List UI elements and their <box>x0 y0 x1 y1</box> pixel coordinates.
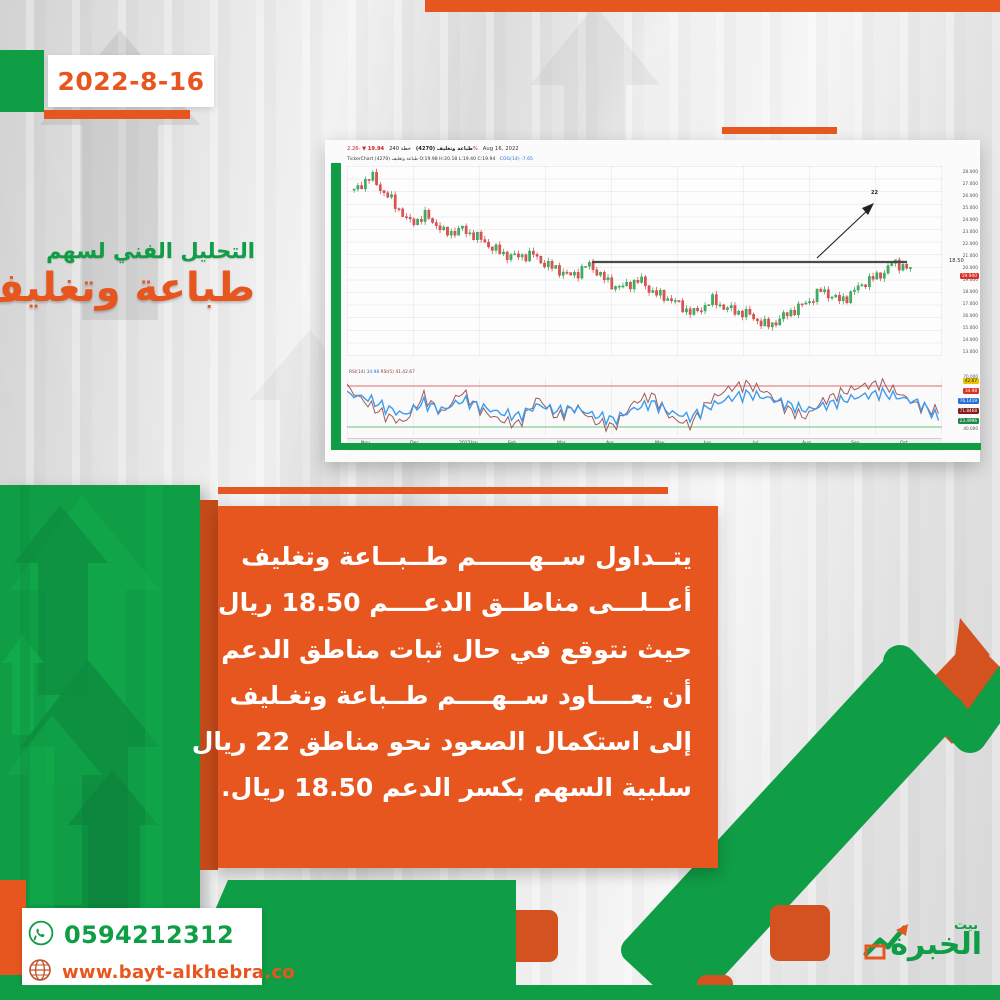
candle-body <box>491 247 493 250</box>
candle-body <box>868 276 870 287</box>
candle-body <box>487 242 489 247</box>
candle-body <box>726 308 728 310</box>
whatsapp-icon <box>28 920 54 950</box>
candle-body <box>741 311 743 317</box>
candle-body <box>543 263 545 267</box>
candle-body <box>443 227 445 230</box>
footer-phone-row[interactable]: 0594212312 <box>28 920 234 950</box>
target-arrow-line <box>817 208 870 258</box>
chart-symbol: طباعة وتغليف (4270) <box>416 146 473 152</box>
candle-body <box>820 289 822 292</box>
candle-body <box>644 277 646 286</box>
candle-body <box>439 226 441 230</box>
candle-body <box>846 297 848 303</box>
candle-body <box>637 280 639 282</box>
price-axis-tick: 18.000 <box>963 290 978 295</box>
candle-body <box>514 254 516 255</box>
candle-body <box>812 302 814 303</box>
candle-body <box>528 251 530 261</box>
candle-body <box>764 319 766 326</box>
candle-body <box>465 226 467 234</box>
chart-indicator-title: RSI(14) 34.98 RSI(5) 41.42.67 <box>349 370 415 375</box>
price-axis-tick: 17.000 <box>963 302 978 307</box>
candle-body <box>891 263 893 265</box>
chart-price-axis: 28.00027.00026.00025.00024.00023.00022.0… <box>945 166 979 356</box>
candle-body <box>850 292 852 303</box>
candle-body <box>521 255 523 257</box>
candle-body <box>857 286 859 290</box>
rsi5-value: 41.42.67 <box>395 370 415 375</box>
candle-body <box>525 255 527 261</box>
candle-body <box>424 210 426 221</box>
chart-header-quote: طباعة وتغليف (4270) خطة 240 19.94 ▼ -2.2… <box>347 146 519 152</box>
candle-body <box>782 313 784 319</box>
candle-body <box>704 305 706 311</box>
candle-body <box>402 209 404 217</box>
analysis-text-box: يتــداول ســهــــــم طــبــاعة وتغليف أع… <box>218 506 718 868</box>
candle-body <box>495 245 497 251</box>
candle-body <box>588 262 590 266</box>
candle-body <box>678 300 680 301</box>
candle-body <box>450 231 452 235</box>
candle-body <box>506 252 508 260</box>
candle-body <box>667 299 669 301</box>
price-axis-tick: 16.000 <box>963 314 978 319</box>
candle-body <box>484 240 486 242</box>
analysis-paragraph: يتــداول ســهــــــم طــبــاعة وتغليف أع… <box>244 534 692 812</box>
candle-body <box>794 310 796 315</box>
candle-body <box>540 256 542 263</box>
candle-body <box>607 278 609 280</box>
candle-body <box>472 233 474 240</box>
candle-body <box>693 308 695 314</box>
candle-body <box>622 286 624 287</box>
indicator-value-badge: 71.8468 <box>958 408 979 414</box>
candle-body <box>577 272 579 278</box>
chart-indicator-axis: 70.00050.00040.00042.6734.9876.141971.84… <box>945 372 979 440</box>
price-axis-tick: 21.000 <box>963 254 978 259</box>
candle-body <box>835 295 837 297</box>
price-axis-tick: 15.000 <box>963 326 978 331</box>
chart-accent-tick <box>722 127 837 134</box>
candle-body <box>786 313 788 316</box>
candle-body <box>674 300 676 301</box>
candle-body <box>659 290 661 295</box>
candle-body <box>364 179 366 189</box>
page-title: طباعة وتغليف <box>0 265 255 311</box>
candle-body <box>838 295 840 301</box>
price-axis-tick: 28.000 <box>963 170 978 175</box>
candle-body <box>760 321 762 326</box>
candle-body <box>566 272 568 273</box>
chart-direction-icon: ▼ <box>362 146 366 152</box>
candle-body <box>458 228 460 235</box>
headline-block: التحليل الفني لسهم طباعة وتغليف <box>0 240 255 311</box>
candle-body <box>734 306 736 315</box>
candle-body <box>394 195 396 209</box>
candle-body <box>853 290 855 291</box>
candle-body <box>536 254 538 256</box>
candle-body <box>711 295 713 305</box>
candle-body <box>655 291 657 296</box>
candle-body <box>906 264 908 268</box>
chart-cog-text: COG(14) -7.65 <box>500 157 533 162</box>
candle-body <box>555 265 557 268</box>
price-axis-tick: 22.000 <box>963 242 978 247</box>
target-price-label: 22 <box>871 190 878 196</box>
footer-website-row[interactable]: www.bayt-alkhebra.co <box>28 958 295 986</box>
candle-body <box>696 308 698 311</box>
candle-body <box>499 245 501 254</box>
chart-last-price: 19.94 <box>368 146 384 152</box>
candle-body <box>360 185 362 188</box>
candle-body <box>409 217 411 219</box>
chart-ohlc-text: TickerChart طباعة وتغليف (4270) O:19.98 … <box>347 157 495 162</box>
candle-body <box>405 217 407 218</box>
date-label: 2022-8-16 <box>57 67 204 96</box>
candle-body <box>749 309 751 314</box>
candle-body <box>398 209 400 210</box>
price-axis-tick: 26.000 <box>963 194 978 199</box>
analysis-line: سلبية السهم بكسر الدعم 18.50 ريال. <box>244 765 692 811</box>
chart-price-plot: 22 <box>347 166 942 356</box>
candle-body <box>375 172 377 184</box>
candle-body <box>413 219 415 225</box>
candle-body <box>790 310 792 316</box>
candle-body <box>831 297 833 298</box>
candle-body <box>416 219 418 225</box>
analysis-line: يتــداول ســهــــــم طــبــاعة وتغليف <box>244 534 692 580</box>
candle-body <box>872 276 874 279</box>
indicator-value-badge: 76.1419 <box>958 398 979 404</box>
indicator-value-badge: 34.98 <box>963 388 979 394</box>
logo-main-word: الخبرة <box>890 930 982 960</box>
candle-body <box>428 210 430 218</box>
candle-body <box>584 266 586 267</box>
candle-body <box>779 319 781 325</box>
price-axis-tick: 13.000 <box>963 350 978 355</box>
analysis-line: إلى استكمال الصعود نحو مناطق 22 ريال <box>244 719 692 765</box>
candle-body <box>670 299 672 301</box>
candle-body <box>599 272 601 275</box>
candle-body <box>723 305 725 310</box>
candle-body <box>517 254 519 257</box>
orange-side-strip <box>200 500 218 870</box>
current-price-tag: 19.940 <box>960 273 979 279</box>
candle-body <box>708 305 710 306</box>
candle-body <box>614 286 616 289</box>
date-badge: 2022-8-16 <box>48 55 214 107</box>
candle-body <box>879 273 881 279</box>
chart-interval: خطة 240 <box>389 146 411 152</box>
globe-icon <box>28 958 52 986</box>
candle-body <box>435 222 437 225</box>
text-box-accent-line <box>218 487 668 494</box>
candle-body <box>861 285 863 286</box>
candle-body <box>797 304 799 315</box>
candle-body <box>633 280 635 289</box>
candle-body <box>663 290 665 300</box>
analysis-line: حيث نتوقع في حال ثبات مناطق الدعم <box>244 627 692 673</box>
rsi14-label: RSI(14) <box>349 370 365 375</box>
brand-logo[interactable]: بيت الخبرة <box>862 916 982 978</box>
candle-body <box>383 191 385 193</box>
candle-body <box>547 261 549 267</box>
candle-body <box>801 304 803 305</box>
chart-header-ohlc: TickerChart طباعة وتغليف (4270) O:19.98 … <box>347 157 533 162</box>
price-axis-tick: 20.000 <box>963 266 978 271</box>
price-axis-tick: 23.000 <box>963 230 978 235</box>
candle-body <box>909 267 911 268</box>
candlestick-series <box>347 166 942 356</box>
candle-body <box>469 233 471 234</box>
candle-body <box>876 273 878 279</box>
candle-body <box>570 272 572 275</box>
candle-body <box>562 272 564 275</box>
candle-body <box>461 226 463 228</box>
candle-body <box>864 285 866 287</box>
candle-body <box>629 282 631 289</box>
headline-subtitle: التحليل الفني لسهم <box>0 240 255 263</box>
candle-body <box>551 261 553 268</box>
footer-website-url: www.bayt-alkhebra.co <box>62 962 295 983</box>
candle-body <box>454 231 456 235</box>
candle-body <box>805 303 807 304</box>
candle-body <box>640 277 642 283</box>
candle-body <box>823 290 825 292</box>
candle-body <box>368 179 370 180</box>
candle-body <box>902 264 904 270</box>
candle-body <box>372 172 374 180</box>
price-axis-tick: 14.000 <box>963 338 978 343</box>
candle-body <box>700 311 702 312</box>
date-badge-underline <box>44 110 190 119</box>
candle-body <box>420 219 422 221</box>
candle-body <box>480 232 482 239</box>
chart-bottom-accent <box>331 443 981 450</box>
candle-body <box>558 265 560 275</box>
candle-body <box>685 309 687 312</box>
rsi-series <box>347 378 942 436</box>
footer-bottom-bar <box>0 985 1000 1000</box>
indicator-value-badge: 23.4996 <box>958 418 979 424</box>
decorative-square <box>770 905 830 961</box>
candle-body <box>353 189 355 190</box>
candle-body <box>379 185 381 191</box>
candle-body <box>816 289 818 302</box>
candle-body <box>390 195 392 197</box>
candle-body <box>682 301 684 312</box>
candle-body <box>808 302 810 303</box>
candle-body <box>581 266 583 278</box>
price-axis-tick: 25.000 <box>963 206 978 211</box>
indicator-axis-tick: 40.000 <box>963 426 978 431</box>
candle-body <box>626 282 628 286</box>
candle-body <box>719 305 721 306</box>
candle-body <box>842 297 844 301</box>
date-badge-green-block <box>0 50 44 112</box>
chart-screenshot-card: طباعة وتغليف (4270) خطة 240 19.94 ▼ -2.2… <box>325 140 980 462</box>
candle-body <box>446 227 448 235</box>
top-accent-bar <box>425 0 1000 12</box>
candle-body <box>767 319 769 327</box>
poster-canvas: 2022-8-16 التحليل الفني لسهم طباعة وتغلي… <box>0 0 1000 1000</box>
candle-body <box>771 323 773 327</box>
candle-body <box>738 311 740 314</box>
chart-left-accent <box>331 163 341 445</box>
candle-body <box>532 251 534 254</box>
candle-body <box>618 286 620 287</box>
candle-body <box>592 262 594 269</box>
candle-body <box>689 309 691 315</box>
rsi14-line <box>347 388 939 425</box>
price-axis-tick: 27.000 <box>963 182 978 187</box>
candle-body <box>502 252 504 254</box>
candle-body <box>775 323 777 325</box>
footer-phone-number: 0594212312 <box>64 921 234 949</box>
candle-body <box>756 319 758 321</box>
rsi5-label: RSI(5) <box>381 370 394 375</box>
candle-body <box>887 266 889 273</box>
candle-body <box>476 232 478 240</box>
price-axis-tick: 24.000 <box>963 218 978 223</box>
candle-body <box>357 185 359 189</box>
analysis-line: أعــلـــى مناطــق الدعــــم 18.50 ريال <box>244 580 692 626</box>
candle-body <box>883 273 885 278</box>
chart-date: Aug 16, 2022 <box>483 146 519 152</box>
rsi14-value: 34.98 <box>367 370 380 375</box>
candle-body <box>510 255 512 260</box>
candle-body <box>827 290 829 298</box>
candle-body <box>603 272 605 280</box>
candle-body <box>611 278 613 290</box>
chart-indicator-plot <box>347 378 942 436</box>
candle-body <box>652 291 654 293</box>
candle-body <box>715 295 717 305</box>
candle-body <box>387 193 389 197</box>
candle-body <box>431 218 433 222</box>
indicator-value-badge: 42.67 <box>963 378 979 384</box>
candle-body <box>730 306 732 308</box>
candle-body <box>596 270 598 276</box>
candle-body <box>745 309 747 317</box>
candle-body <box>648 286 650 293</box>
candle-body <box>573 272 575 275</box>
analysis-line: أن يعــــاود ســهــــم طــباعة وتغـليف <box>244 673 692 719</box>
candle-body <box>752 314 754 319</box>
